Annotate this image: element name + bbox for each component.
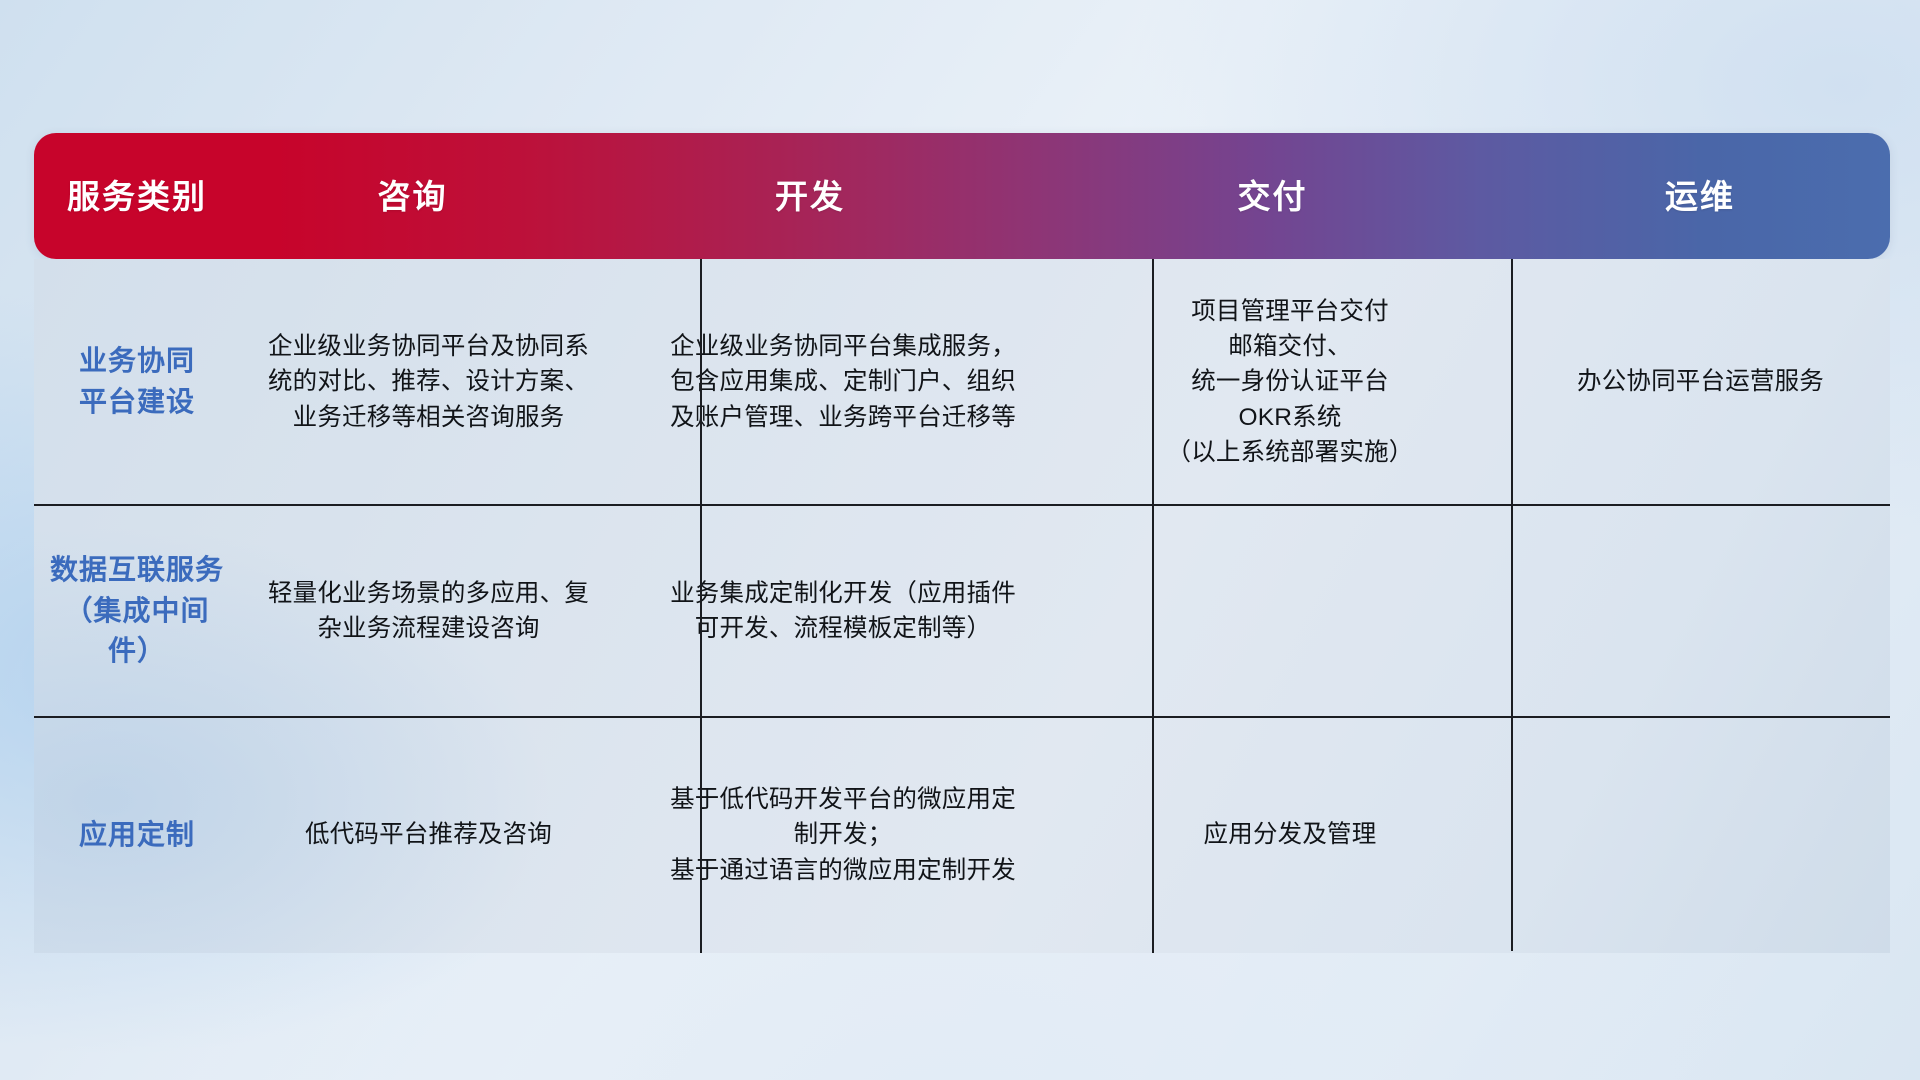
header-cell-category: 服务类别 <box>34 180 240 213</box>
column-divider-consulting-development <box>700 259 702 953</box>
service-category-table: 服务类别 咨询 开发 交付 运维 业务协同 平台建设 企业级业务协同平台及协同系… <box>34 133 1890 953</box>
row-divider-2 <box>34 716 1890 718</box>
row-1-development-cell: 企业级业务协同平台集成服务， 包含应用集成、定制门户、组织 及账户管理、业务跨平… <box>617 259 1069 505</box>
row-2-consulting-text: 轻量化业务场景的多应用、复 杂业务流程建设咨询 <box>268 576 589 647</box>
table-row: 应用定制 低代码平台推荐及咨询 基于低代码开发平台的微应用定 制开发； 基于通过… <box>34 717 1890 953</box>
row-1-delivery-text: 项目管理平台交付 邮箱交付、 统一身份认证平台 OKR系统 （以上系统部署实施） <box>1167 294 1414 470</box>
slide-canvas: 服务类别 咨询 开发 交付 运维 业务协同 平台建设 企业级业务协同平台及协同系… <box>0 0 1920 1080</box>
row-2-category-cell: 数据互联服务 （集成中间件） <box>34 505 240 717</box>
row-1-development-text: 企业级业务协同平台集成服务， 包含应用集成、定制门户、组织 及账户管理、业务跨平… <box>670 329 1016 435</box>
row-2-category-label: 数据互联服务 （集成中间件） <box>48 550 226 672</box>
row-3-development-text: 基于低代码开发平台的微应用定 制开发； 基于通过语言的微应用定制开发 <box>670 782 1016 888</box>
table-header-row: 服务类别 咨询 开发 交付 运维 <box>34 133 1890 259</box>
row-2-development-cell: 业务集成定制化开发（应用插件 可开发、流程模板定制等） <box>617 505 1069 717</box>
header-cell-consulting: 咨询 <box>240 180 585 213</box>
row-1-category-cell: 业务协同 平台建设 <box>34 259 240 505</box>
table-body: 业务协同 平台建设 企业级业务协同平台及协同系 统的对比、推荐、设计方案、 业务… <box>34 259 1890 953</box>
row-3-consulting-text: 低代码平台推荐及咨询 <box>305 817 552 852</box>
row-3-delivery-text: 应用分发及管理 <box>1204 817 1377 852</box>
row-3-consulting-cell: 低代码平台推荐及咨询 <box>240 717 617 953</box>
table-row: 数据互联服务 （集成中间件） 轻量化业务场景的多应用、复 杂业务流程建设咨询 业… <box>34 505 1890 717</box>
row-1-consulting-cell: 企业级业务协同平台及协同系 统的对比、推荐、设计方案、 业务迁移等相关咨询服务 <box>240 259 617 505</box>
row-3-category-cell: 应用定制 <box>34 717 240 953</box>
row-1-category-label: 业务协同 平台建设 <box>79 341 195 422</box>
column-divider-development-delivery <box>1152 259 1154 953</box>
row-2-delivery-cell <box>1069 505 1511 717</box>
row-1-delivery-cell: 项目管理平台交付 邮箱交付、 统一身份认证平台 OKR系统 （以上系统部署实施） <box>1069 259 1511 505</box>
row-1-consulting-text: 企业级业务协同平台及协同系 统的对比、推荐、设计方案、 业务迁移等相关咨询服务 <box>268 329 589 435</box>
header-cell-delivery: 交付 <box>1035 180 1510 213</box>
row-3-delivery-cell: 应用分发及管理 <box>1069 717 1511 953</box>
row-2-development-text: 业务集成定制化开发（应用插件 可开发、流程模板定制等） <box>670 576 1016 647</box>
header-cell-operations: 运维 <box>1510 180 1890 213</box>
row-1-operations-cell: 办公协同平台运营服务 <box>1511 259 1890 505</box>
row-1-operations-text: 办公协同平台运营服务 <box>1577 364 1824 399</box>
row-2-operations-cell <box>1511 505 1890 717</box>
row-3-operations-cell <box>1511 717 1890 953</box>
column-divider-delivery-operations <box>1511 259 1513 951</box>
row-3-development-cell: 基于低代码开发平台的微应用定 制开发； 基于通过语言的微应用定制开发 <box>617 717 1069 953</box>
header-cell-development: 开发 <box>585 180 1035 213</box>
table-row: 业务协同 平台建设 企业级业务协同平台及协同系 统的对比、推荐、设计方案、 业务… <box>34 259 1890 505</box>
row-3-category-label: 应用定制 <box>79 815 195 856</box>
row-divider-1 <box>34 504 1890 506</box>
row-2-consulting-cell: 轻量化业务场景的多应用、复 杂业务流程建设咨询 <box>240 505 617 717</box>
